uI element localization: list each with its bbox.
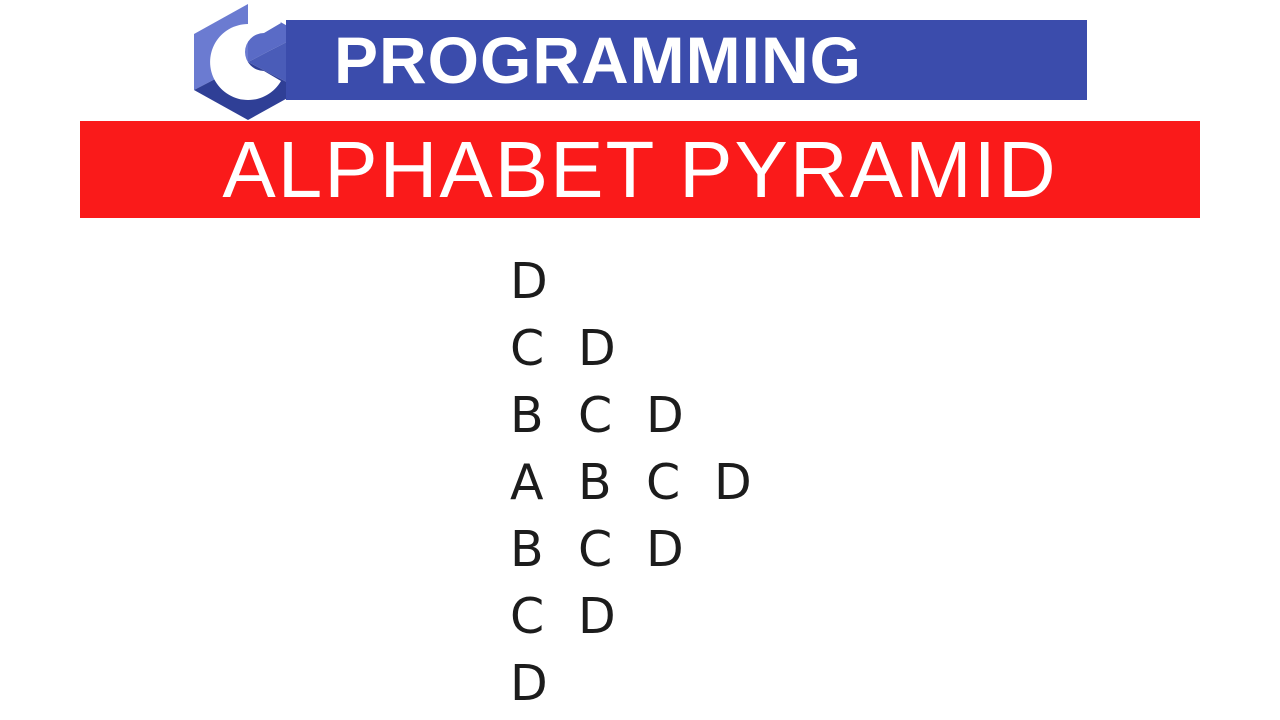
- alphabet-pyramid-subtitle-text: ALPHABET PYRAMID: [80, 121, 1200, 218]
- pyramid-letter: C: [646, 449, 714, 516]
- pyramid-row: D: [510, 248, 782, 315]
- pyramid-letter: B: [510, 382, 578, 449]
- pyramid-row: ABCD: [510, 449, 782, 516]
- pyramid-letter: D: [510, 248, 578, 315]
- pyramid-row: BCD: [510, 516, 782, 583]
- pyramid-letter: D: [578, 583, 646, 650]
- pyramid-letter: D: [578, 315, 646, 382]
- pyramid-letter: C: [510, 315, 578, 382]
- pyramid-letter: C: [578, 382, 646, 449]
- pyramid-row: CD: [510, 583, 782, 650]
- pyramid-row: D: [510, 650, 782, 717]
- pyramid-letter: D: [510, 650, 578, 717]
- alphabet-pyramid-output: DCDBCDABCDBCDCDD: [510, 248, 782, 717]
- pyramid-letter: D: [646, 516, 714, 583]
- pyramid-letter: B: [510, 516, 578, 583]
- pyramid-letter: B: [578, 449, 646, 516]
- pyramid-row: BCD: [510, 382, 782, 449]
- pyramid-row: CD: [510, 315, 782, 382]
- pyramid-letter: A: [510, 449, 578, 516]
- pyramid-letter: D: [646, 382, 714, 449]
- pyramid-letter: C: [510, 583, 578, 650]
- programming-title-text: PROGRAMMING: [334, 20, 1094, 100]
- pyramid-letter: D: [714, 449, 782, 516]
- pyramid-letter: C: [578, 516, 646, 583]
